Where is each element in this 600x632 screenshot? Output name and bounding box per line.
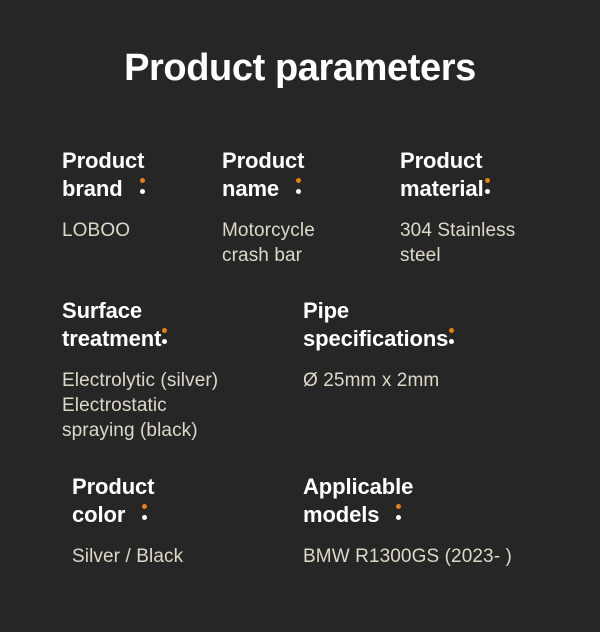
spec-label: Product brand [62,148,144,201]
colon-icon [296,174,301,196]
spec-value: LOBOO [62,218,212,243]
product-parameters-panel: Product parameters Product brand LOBOO P… [0,0,600,632]
page-title: Product parameters [0,48,600,90]
spec-value: Electrolytic (silver) Electrostatic spra… [62,368,292,443]
spec-label: Product material [400,148,484,201]
spec-label-wrap: Product name [222,148,392,202]
spec-value: 304 Stainless steel [400,218,580,268]
spec-value: Silver / Black [72,544,282,569]
spec-label-wrap: Pipe specifications [303,298,553,352]
spec-value: Motorcycle crash bar [222,218,392,268]
spec-item-surface-treatment: Surface treatment Electrolytic (silver) … [62,298,292,443]
spec-label-wrap: Applicable models [303,474,583,528]
colon-icon [140,174,145,196]
spec-label: Surface treatment [62,298,161,351]
spec-item-product-material: Product material 304 Stainless steel [400,148,580,268]
spec-item-product-color: Product color Silver / Black [72,474,282,569]
spec-item-pipe-specifications: Pipe specifications Ø 25mm x 2mm [303,298,553,393]
spec-label-wrap: Product material [400,148,580,202]
spec-item-product-brand: Product brand LOBOO [62,148,212,243]
spec-label: Pipe specifications [303,298,448,351]
spec-label-wrap: Product brand [62,148,212,202]
spec-label-wrap: Surface treatment [62,298,292,352]
spec-value: BMW R1300GS (2023- ) [303,544,583,569]
spec-value: Ø 25mm x 2mm [303,368,553,393]
colon-icon [485,174,490,196]
spec-label-wrap: Product color [72,474,282,528]
colon-icon [162,324,167,346]
spec-label: Product name [222,148,304,201]
spec-item-applicable-models: Applicable models BMW R1300GS (2023- ) [303,474,583,569]
colon-icon [449,324,454,346]
spec-item-product-name: Product name Motorcycle crash bar [222,148,392,268]
colon-icon [396,500,401,522]
colon-icon [142,500,147,522]
